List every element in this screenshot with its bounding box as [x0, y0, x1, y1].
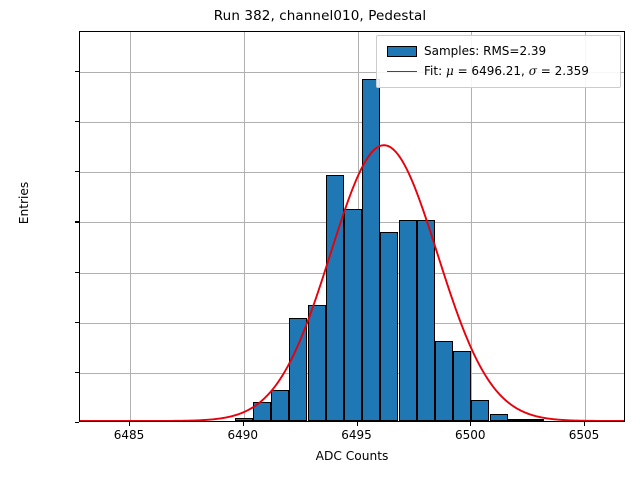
gridline-vertical	[471, 32, 472, 421]
x-axis-label: ADC Counts	[79, 449, 625, 463]
x-tick-label: 6500	[455, 428, 486, 442]
gridline-horizontal	[80, 122, 624, 123]
y-tick-mark	[75, 171, 79, 172]
figure-canvas: Run 382, channel010, Pedestal 6485649064…	[0, 0, 640, 480]
histogram-bar	[308, 305, 326, 421]
sigma-symbol: σ	[529, 64, 537, 78]
histogram-bar	[471, 400, 489, 421]
histogram-bar	[344, 209, 362, 421]
histogram-bar	[235, 418, 253, 421]
x-tick-label: 6490	[228, 428, 259, 442]
legend-label-fit: Fit: μ = 6496.21, σ = 2.359	[424, 64, 589, 78]
histogram-bar	[508, 419, 526, 421]
y-tick-mark	[75, 322, 79, 323]
x-tick-mark	[129, 422, 130, 426]
histogram-bar	[362, 79, 380, 421]
legend-label-samples: Samples: RMS=2.39	[424, 44, 546, 58]
y-tick-mark	[75, 422, 79, 423]
mu-value: = 6496.21,	[454, 64, 529, 78]
plot-area	[79, 31, 625, 422]
legend-patch-swatch-icon	[387, 46, 417, 57]
histogram-bar	[289, 318, 307, 421]
legend-line-swatch-icon	[387, 71, 417, 72]
legend-item-samples: Samples: RMS=2.39	[383, 41, 614, 61]
histogram-bar	[435, 341, 453, 421]
y-tick-mark	[75, 372, 79, 373]
gridline-vertical	[585, 32, 586, 421]
histogram-bar	[380, 232, 398, 421]
x-tick-mark	[584, 422, 585, 426]
x-tick-label: 6505	[569, 428, 600, 442]
legend: Samples: RMS=2.39 Fit: μ = 6496.21, σ = …	[376, 35, 621, 88]
mu-symbol: μ	[446, 64, 454, 78]
histogram-bar	[526, 419, 544, 421]
x-tick-mark	[357, 422, 358, 426]
x-tick-mark	[243, 422, 244, 426]
y-tick-mark	[75, 221, 79, 222]
x-tick-label: 6485	[114, 428, 145, 442]
histogram-bar	[417, 220, 435, 422]
gridline-vertical	[130, 32, 131, 421]
y-tick-mark	[75, 71, 79, 72]
y-tick-mark	[75, 121, 79, 122]
histogram-bar	[326, 175, 344, 421]
histogram-bar	[490, 414, 508, 421]
gridline-horizontal	[80, 172, 624, 173]
histogram-bar	[453, 351, 471, 421]
x-tick-label: 6495	[341, 428, 372, 442]
x-tick-mark	[470, 422, 471, 426]
page-title: Run 382, channel010, Pedestal	[0, 8, 640, 24]
histogram-bar	[271, 390, 289, 421]
histogram-bar	[399, 220, 417, 422]
sigma-value: = 2.359	[537, 64, 589, 78]
y-tick-mark	[75, 272, 79, 273]
legend-item-fit: Fit: μ = 6496.21, σ = 2.359	[383, 61, 614, 81]
legend-fit-prefix: Fit:	[424, 64, 446, 78]
histogram-bar	[253, 402, 271, 421]
y-axis-label: Entries	[17, 143, 31, 263]
gridline-vertical	[244, 32, 245, 421]
